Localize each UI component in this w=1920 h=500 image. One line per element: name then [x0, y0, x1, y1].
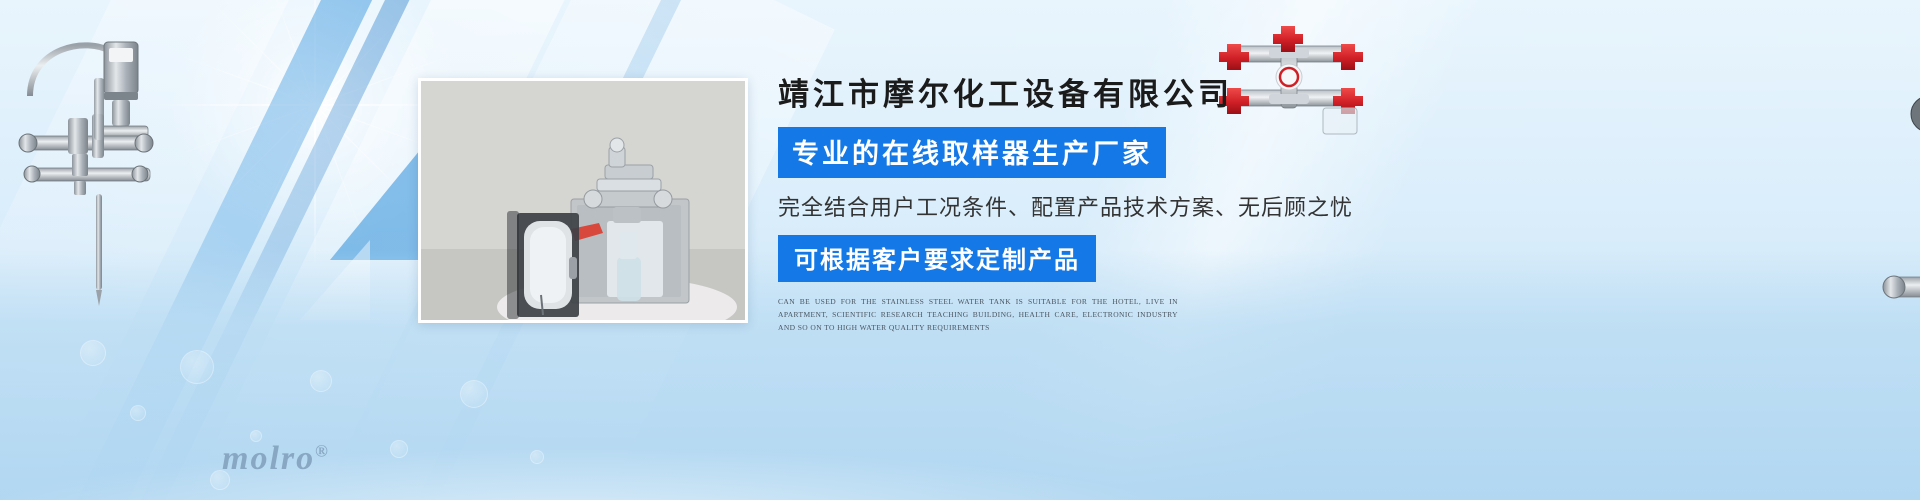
sampler-bottom-right-icon	[1880, 225, 1920, 405]
sampler-assembly-left-icon	[8, 18, 178, 308]
watermark-logo: molro®	[222, 440, 330, 478]
flanged-valve-right-icon	[1905, 20, 1920, 220]
custom-badge-row: 可根据客户要求定制产品	[778, 222, 1398, 282]
promo-banner: 靖江市摩尔化工设备有限公司 专业的在线取样器生产厂家 完全结合用户工况条件、配置…	[0, 0, 1920, 500]
cabinet-sampler-photo	[418, 78, 748, 323]
watermark-text: molro	[222, 440, 315, 477]
watermark-registered-mark: ®	[315, 442, 330, 461]
bubble-decoration	[60, 310, 620, 500]
headline-badge: 专业的在线取样器生产厂家	[778, 127, 1166, 178]
copy-block: 靖江市摩尔化工设备有限公司 专业的在线取样器生产厂家 完全结合用户工况条件、配置…	[778, 76, 1398, 334]
custom-badge: 可根据客户要求定制产品	[778, 235, 1096, 282]
subline: 完全结合用户工况条件、配置产品技术方案、无后顾之忧	[778, 190, 1398, 222]
company-name: 靖江市摩尔化工设备有限公司	[778, 76, 1398, 115]
photo-contents	[421, 81, 748, 323]
english-description: CAN BE USED FOR THE STAINLESS STEEL WATE…	[778, 295, 1178, 334]
headline-badge-row: 专业的在线取样器生产厂家	[778, 127, 1398, 178]
